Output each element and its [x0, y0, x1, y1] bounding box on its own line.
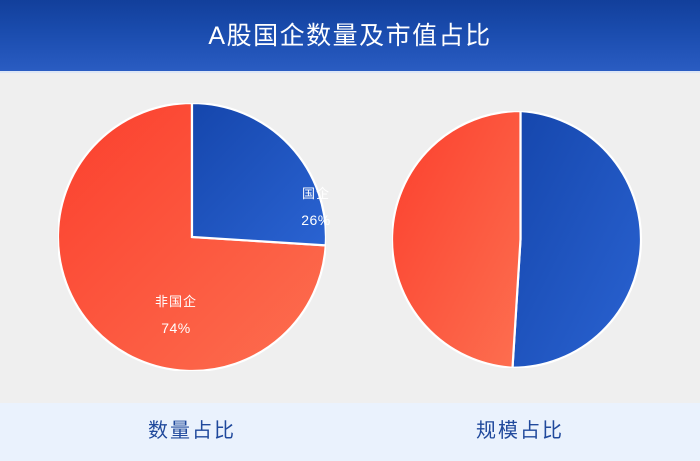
chart-page: A股国企数量及市值占比: [0, 0, 700, 461]
page-title: A股国企数量及市值占比: [208, 24, 491, 49]
pie-slice-soe[interactable]: [513, 111, 641, 368]
title-bar: A股国企数量及市值占比: [0, 0, 700, 71]
pie-slice-soe[interactable]: [192, 103, 326, 245]
pie-count-svg: [58, 103, 326, 371]
charts-area: 国企 26% 非国企 74%: [0, 73, 700, 403]
pie-scale-svg: [392, 111, 649, 368]
caption-scale: 规模占比: [420, 417, 620, 445]
pie-chart-count: 国企 26% 非国企 74%: [58, 103, 326, 371]
caption-count: 数量占比: [92, 417, 292, 445]
pie-chart-scale: 非国企 51% 国企 49%: [392, 111, 649, 368]
pie-slice-non-soe[interactable]: [392, 111, 520, 368]
caption-bar: 数量占比 规模占比: [0, 403, 700, 461]
